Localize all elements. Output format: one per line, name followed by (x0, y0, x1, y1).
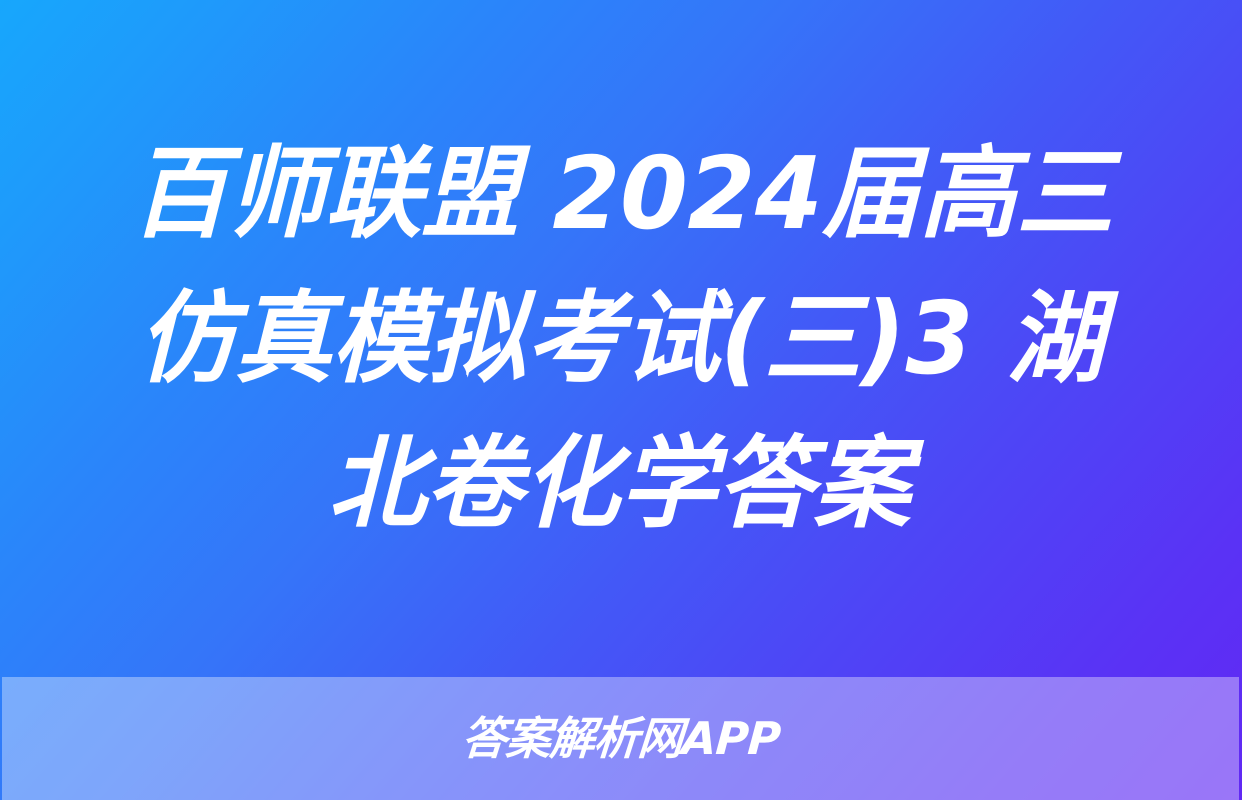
page-title: 百师联盟 2024届高三仿真模拟考试(三)3 湖北卷化学答案 (92, 121, 1149, 556)
footer-brand-label: 答案解析网APP (460, 716, 781, 761)
footer-brand-band[interactable]: 答案解析网APP (2, 677, 1239, 800)
poster-canvas: 百师联盟 2024届高三仿真模拟考试(三)3 湖北卷化学答案 答案解析网APP (0, 0, 1242, 800)
hero-section: 百师联盟 2024届高三仿真模拟考试(三)3 湖北卷化学答案 (0, 0, 1242, 677)
